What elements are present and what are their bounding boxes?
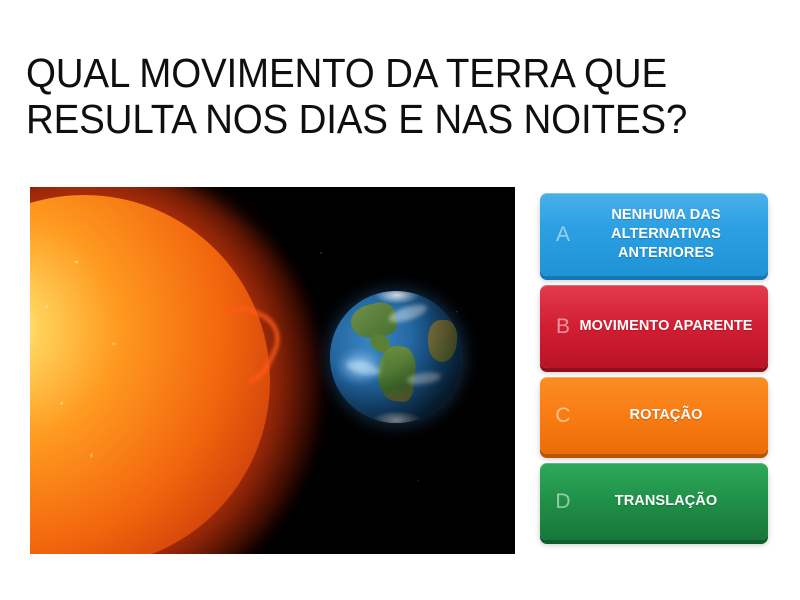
page-title: QUAL MOVIMENTO DA TERRA QUE RESULTA NOS …	[26, 50, 733, 142]
answer-label-b: MOVIMENTO APARENTE	[578, 317, 758, 336]
answer-option-d[interactable]: D TRANSLAÇÃO	[540, 463, 768, 540]
answer-label-c: ROTAÇÃO	[578, 406, 758, 425]
question-image	[30, 187, 515, 554]
answer-options-list: A NENHUMA DAS ALTERNATIVAS ANTERIORES B …	[540, 193, 768, 549]
earth-terminator-shadow	[330, 291, 462, 423]
answer-letter-b: B	[548, 316, 578, 337]
answer-letter-a: A	[548, 224, 578, 245]
answer-option-a[interactable]: A NENHUMA DAS ALTERNATIVAS ANTERIORES	[540, 193, 768, 276]
answer-option-b[interactable]: B MOVIMENTO APARENTE	[540, 285, 768, 368]
answer-label-d: TRANSLAÇÃO	[578, 492, 758, 511]
answer-letter-d: D	[548, 491, 578, 512]
earth-icon	[330, 291, 462, 423]
answer-label-a: NENHUMA DAS ALTERNATIVAS ANTERIORES	[578, 206, 758, 263]
answer-letter-c: C	[548, 405, 578, 426]
answer-option-c[interactable]: C ROTAÇÃO	[540, 377, 768, 454]
